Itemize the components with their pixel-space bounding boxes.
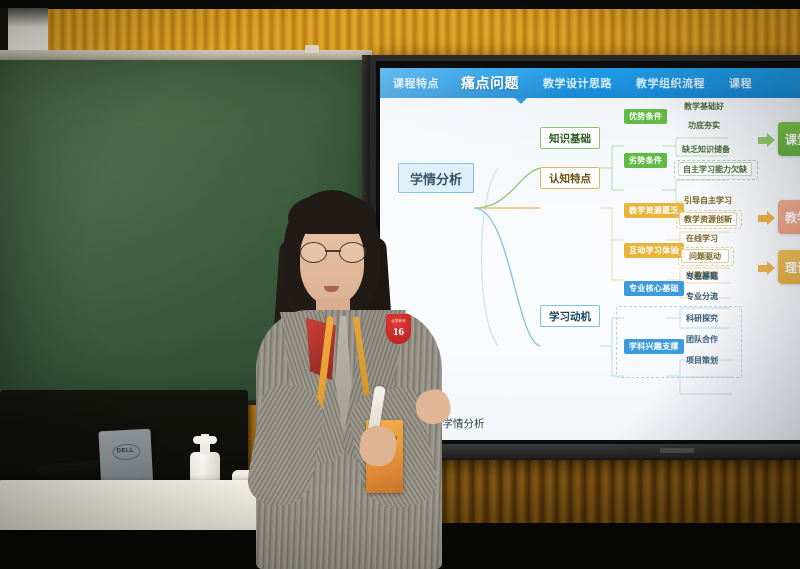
leaf-knowledge-dis-1: 自主学习能力欠缺: [678, 162, 752, 176]
chip-motivation-core[interactable]: 专业核心基础: [624, 281, 684, 296]
glasses-icon: [300, 242, 366, 262]
leaf-knowledge-adv-0: 教学基础好: [680, 99, 728, 113]
leaf-motivation-int-2: 项目策划: [682, 353, 722, 367]
result-box-0[interactable]: 课堂仿: [778, 122, 800, 156]
award-badge: 优秀教师 16: [386, 314, 411, 344]
classroom-scene: 课程特点 痛点问题 教学设计思路 教学组织流程 课程: [0, 0, 800, 569]
branch-node-knowledge[interactable]: 知识基础: [540, 127, 600, 149]
leaf-motivation-int-1: 团队合作: [682, 332, 722, 346]
chip-motivation-interest[interactable]: 学科兴趣支撑: [624, 339, 684, 354]
nav-tab-3[interactable]: 教学组织流程: [631, 75, 710, 91]
leaf-cognition-res-0: 引导自主学习: [680, 193, 736, 207]
chip-knowledge-disadvantage[interactable]: 劣势条件: [624, 153, 667, 168]
branch-node-motivation[interactable]: 学习动机: [540, 305, 600, 327]
chip-cognition-resource[interactable]: 教学资源匮乏: [624, 203, 684, 218]
hair-fringe: [288, 196, 376, 234]
leaf-cognition-res-1: 教学资源创新: [679, 212, 737, 226]
leaf-cognition-int-0: 在线学习: [682, 231, 722, 245]
leaf-knowledge-adv-1: 功底夯实: [684, 118, 724, 132]
leaf-motivation-core-1: 专业分流: [682, 289, 722, 303]
branch-node-cognition[interactable]: 认知特点: [540, 167, 600, 189]
mindmap-center-node[interactable]: 学情分析: [398, 163, 474, 193]
result-box-2[interactable]: 理论实: [778, 250, 800, 284]
leaf-knowledge-dis-0: 缺乏知识储备: [678, 142, 734, 156]
award-badge-number: 16: [386, 326, 411, 338]
nav-tab-4[interactable]: 课程: [724, 75, 757, 91]
presenter-figure: 优秀教师 16: [248, 190, 468, 569]
result-box-1[interactable]: 教学研: [778, 200, 800, 234]
slide-navbar: 课程特点 痛点问题 教学设计思路 教学组织流程 课程: [380, 68, 800, 98]
ceiling-shadow: [0, 0, 800, 9]
leaf-motivation-core-0: 专业基础: [682, 269, 722, 283]
leaf-cognition-int-1: 问题驱动: [681, 249, 729, 263]
nav-tab-1-active[interactable]: 痛点问题: [456, 73, 524, 93]
nav-tab-2[interactable]: 教学设计思路: [538, 75, 617, 91]
leaf-motivation-int-0: 科研探究: [682, 311, 722, 325]
smartboard-logo: [660, 448, 694, 453]
wall-panel: [8, 8, 48, 54]
chip-knowledge-advantage[interactable]: 优势条件: [624, 109, 667, 124]
chip-cognition-interactive[interactable]: 互动学习体验: [624, 243, 684, 258]
nav-tab-0[interactable]: 课程特点: [388, 75, 444, 91]
ledge-clip: [305, 45, 319, 53]
sanitizer-pump-head[interactable]: [193, 436, 217, 444]
award-badge-tagline: 优秀教师: [388, 318, 409, 323]
